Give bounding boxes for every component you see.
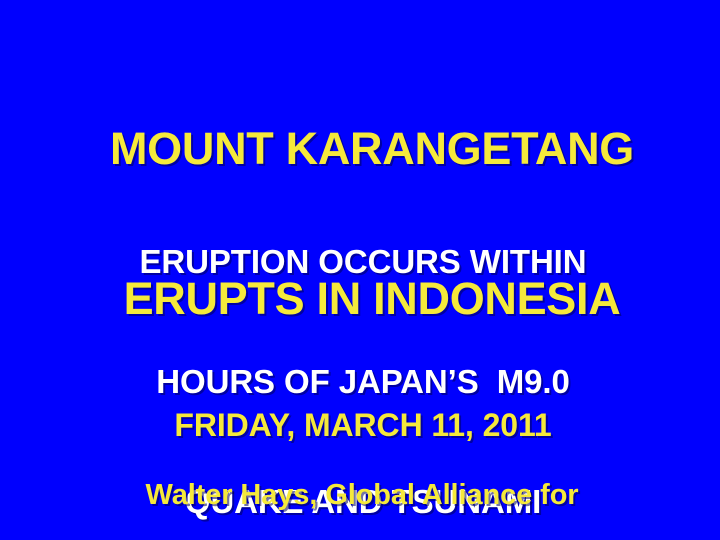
slide-subtitle-line-1: ERUPTION OCCURS WITHIN [6, 242, 720, 282]
presentation-slide: MOUNT KARANGETANG ERUPTS IN INDONESIA ER… [0, 0, 720, 540]
slide-author-line-1: Walter Hays, Global Alliance for [4, 476, 720, 514]
slide-author-affiliation: Walter Hays, Global Alliance for Disaste… [0, 400, 720, 540]
